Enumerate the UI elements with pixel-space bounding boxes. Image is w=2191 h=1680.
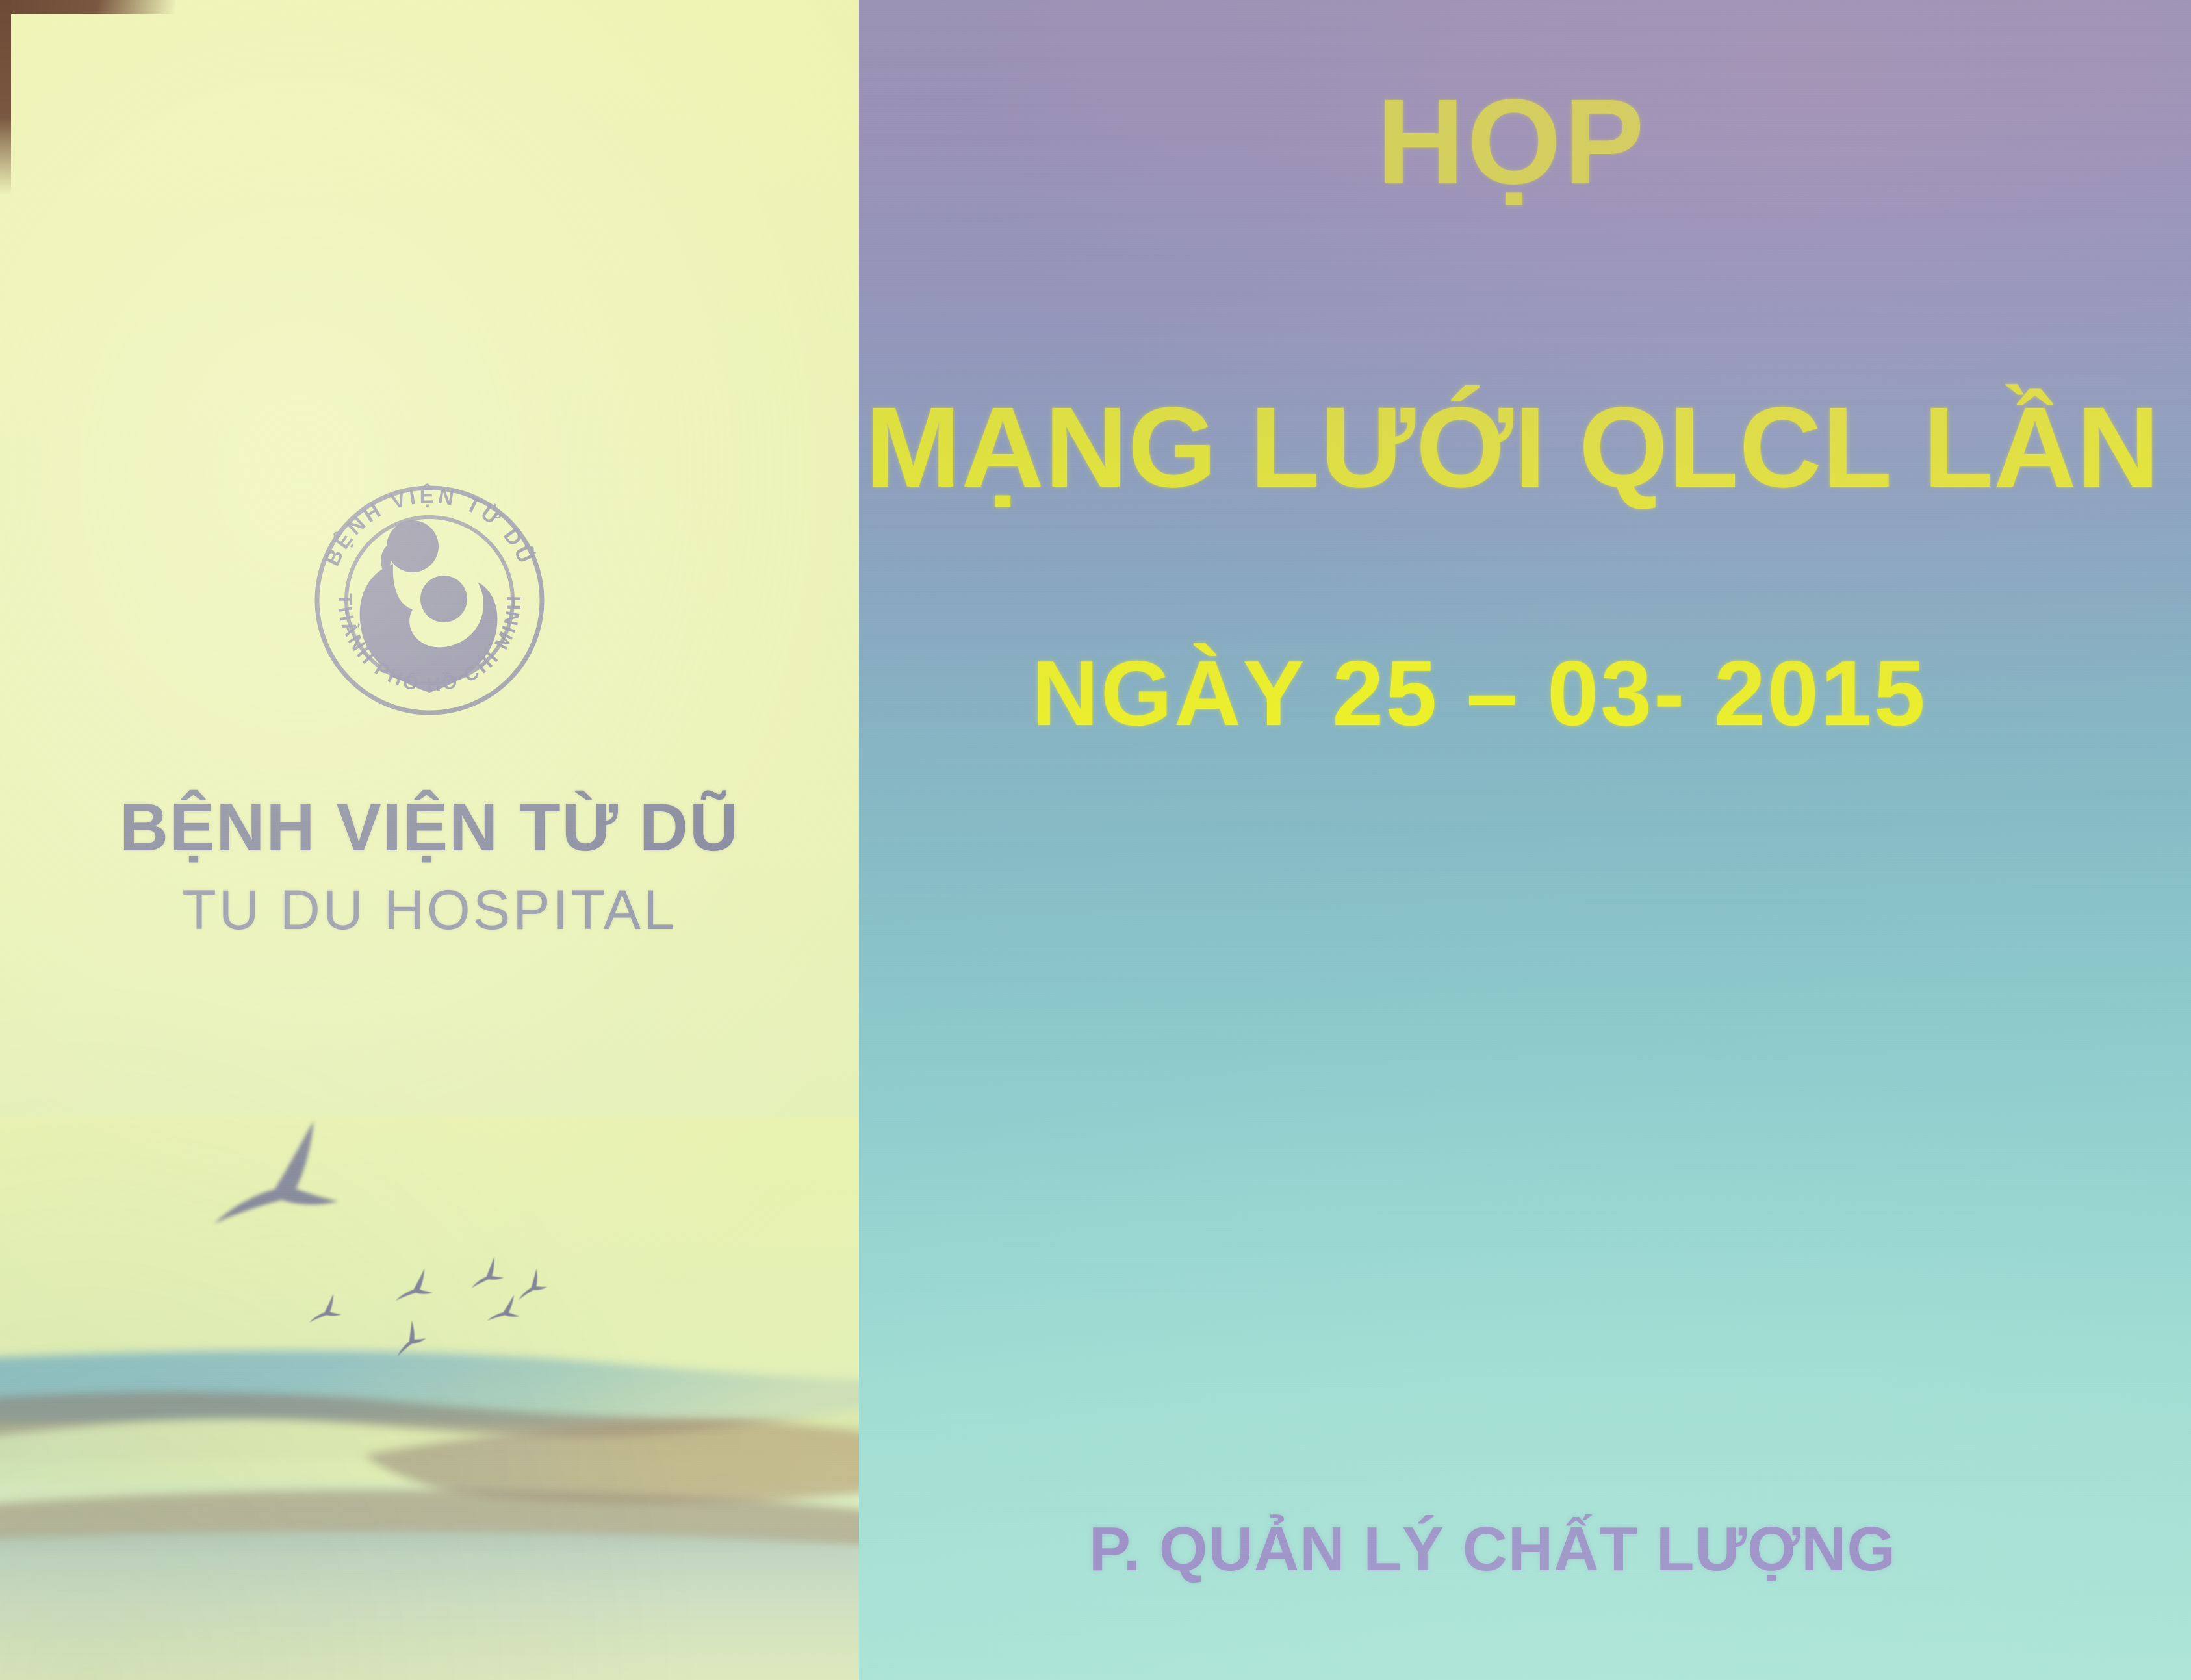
slide-title-line-1: HỌP (859, 73, 2178, 211)
photographed-slide-frame: BỆNH VIỆN TỪ DŨ THÀNH PHỐ HỒ CHÍ MINH (0, 0, 2191, 1680)
slide-department-line: P. QUẢN LÝ CHẤT LƯỢNG (859, 1514, 2159, 1585)
hospital-name-vietnamese: BỆNH VIỆN TỪ DŨ (0, 789, 859, 867)
slide-title-panel: HỌP MẠNG LƯỚI QLCL LẦN 2 NGÀY 25 – 03- 2… (859, 0, 2191, 1680)
hospital-logo-block: BỆNH VIỆN TỪ DŨ THÀNH PHỐ HỒ CHÍ MINH (0, 466, 859, 737)
hospital-name-english: TU DU HOSPITAL (0, 878, 859, 943)
presentation-slide: BỆNH VIỆN TỪ DŨ THÀNH PHỐ HỒ CHÍ MINH (0, 0, 2191, 1680)
brochure-cover-panel: BỆNH VIỆN TỪ DŨ THÀNH PHỐ HỒ CHÍ MINH (0, 0, 859, 1680)
seashore-artwork (0, 1117, 859, 1680)
slide-title-line-2: MẠNG LƯỚI QLCL LẦN 2 (865, 382, 2191, 513)
hospital-seal-icon: BỆNH VIỆN TỪ DŨ THÀNH PHỐ HỒ CHÍ MINH (296, 466, 563, 734)
slide-date-line: NGÀY 25 – 03- 2015 (859, 641, 2146, 747)
